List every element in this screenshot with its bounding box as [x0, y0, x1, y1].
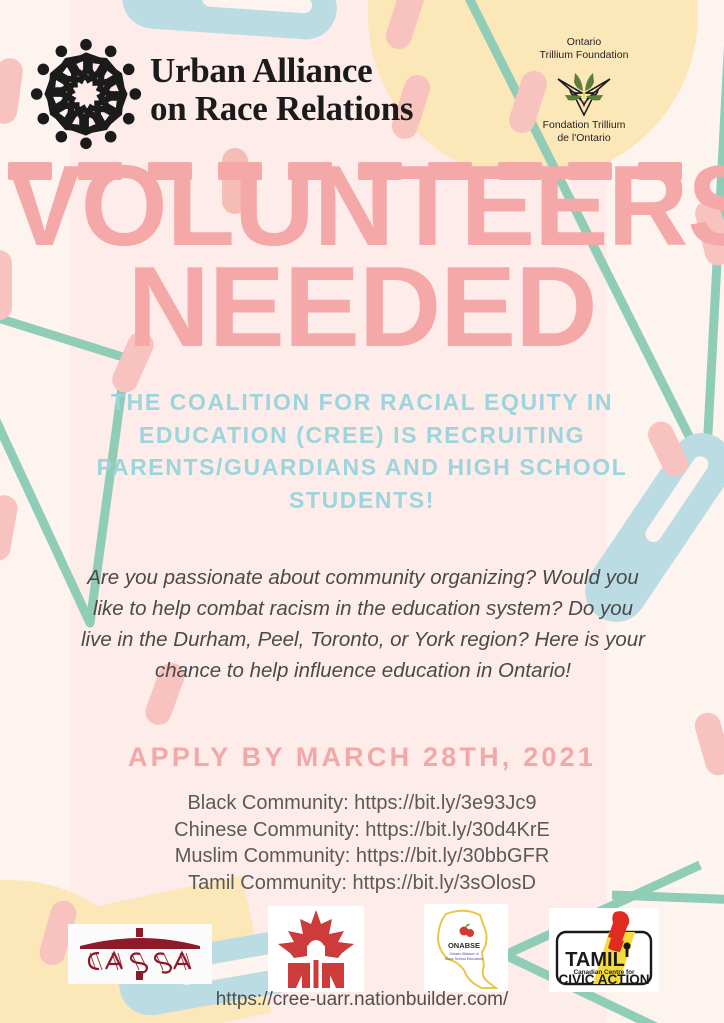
svg-text:ONABSE: ONABSE [448, 941, 480, 950]
otf-fr-line1: Fondation Trillium [520, 119, 648, 132]
otf-en-line1: Ontario [520, 36, 648, 49]
cassa-logo [68, 924, 212, 984]
trillium-flower-icon [552, 65, 616, 117]
poster-content: Urban Alliance on Race Relations Ontario… [0, 0, 724, 1023]
poster-subheading: THE COALITION FOR RACIAL EQUITY IN EDUCA… [80, 386, 644, 517]
link-black-community[interactable]: Black Community: https://bit.ly/3e93Jc9 [0, 790, 724, 817]
footer-website-url[interactable]: https://cree-uarr.nationbuilder.com/ [0, 989, 724, 1011]
svg-text:CIVIC ACTION: CIVIC ACTION [559, 972, 650, 987]
maple-leaf-person-icon [268, 906, 364, 992]
poster-canvas: Urban Alliance on Race Relations Ontario… [0, 0, 724, 1023]
link-muslim-community[interactable]: Muslim Community: https://bit.ly/30bbGFR [0, 843, 724, 870]
onabse-logo: ONABSE Ontario Alliance of Black School … [424, 904, 508, 992]
partner-logos-row: ONABSE Ontario Alliance of Black School … [0, 906, 724, 986]
headline-line2: NEEDED [0, 261, 724, 356]
raised-fist-icon: TAMIL Canadian Centre for CIVIC ACTION [549, 908, 659, 992]
ontario-map-icon: ONABSE Ontario Alliance of Black School … [424, 904, 508, 992]
application-deadline: APPLY BY MARCH 28TH, 2021 [0, 742, 724, 773]
svg-text:Black School Educators: Black School Educators [445, 957, 483, 961]
link-tamil-community[interactable]: Tamil Community: https://bit.ly/3sOlosD [0, 870, 724, 897]
headline-line1: VOLUNTEERS [7, 160, 717, 255]
org-name-line2: on Race Relations [150, 90, 413, 128]
cassa-logo-icon [68, 924, 212, 984]
ontario-trillium-foundation-logo: Ontario Trillium Foundation Fondation Tr… [520, 36, 648, 146]
poster-description: Are you passionate about community organ… [80, 562, 646, 687]
svg-text:Ontario Alliance of: Ontario Alliance of [449, 952, 478, 956]
community-links-list: Black Community: https://bit.ly/3e93Jc9 … [0, 790, 724, 896]
organization-name: Urban Alliance on Race Relations [150, 52, 413, 128]
otf-en-line2: Trillium Foundation [520, 49, 648, 62]
tamil-civic-action-logo: TAMIL Canadian Centre for CIVIC ACTION [549, 908, 659, 992]
svg-text:TAMIL: TAMIL [565, 949, 625, 971]
people-circle-icon [28, 36, 144, 152]
maple-leaf-organization-logo [268, 906, 364, 992]
link-chinese-community[interactable]: Chinese Community: https://bit.ly/30d4Kr… [0, 817, 724, 844]
org-name-line1: Urban Alliance [150, 52, 413, 90]
poster-headline: VOLUNTEERS NEEDED [0, 160, 724, 355]
